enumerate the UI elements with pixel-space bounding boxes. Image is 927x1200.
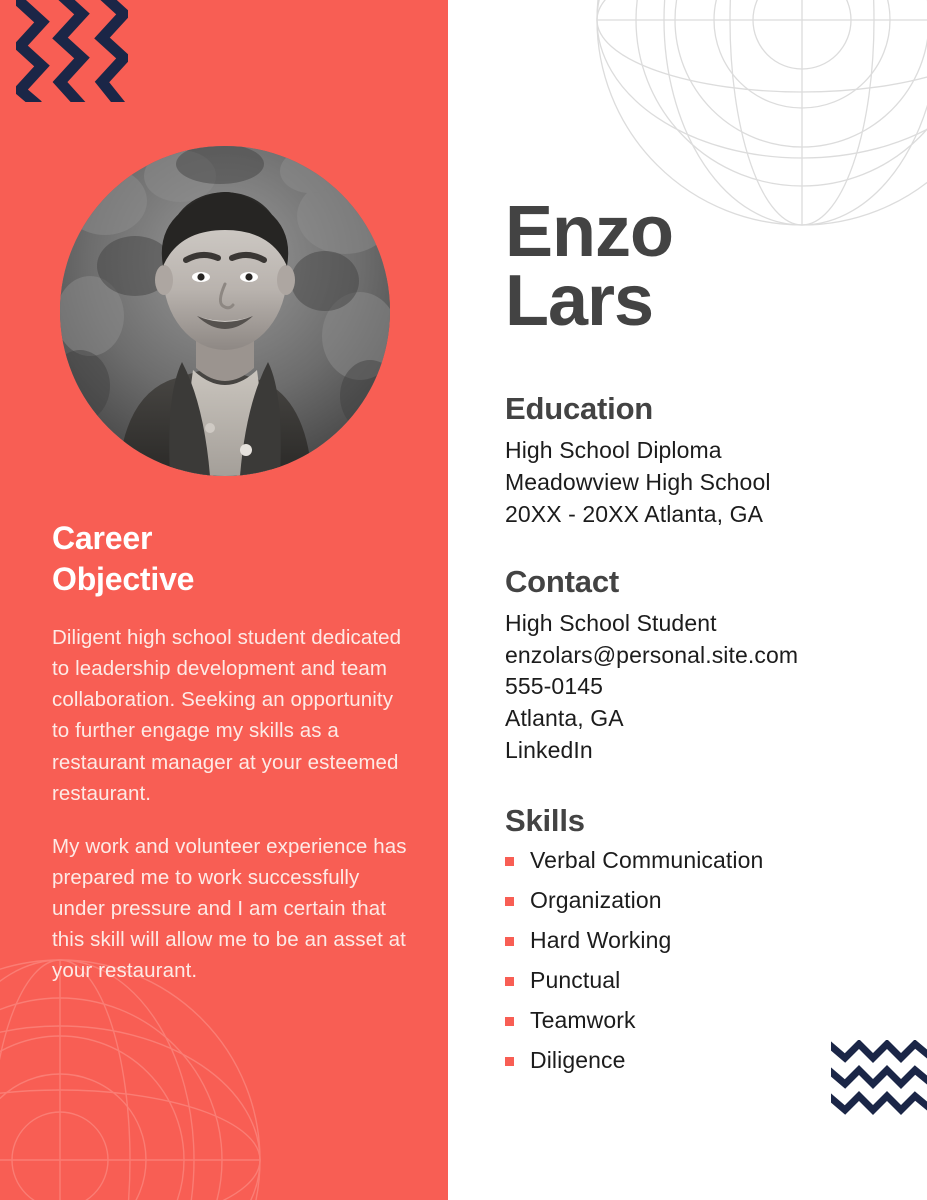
contact-line-location: Atlanta, GA	[505, 703, 927, 735]
square-bullet-icon	[505, 1017, 514, 1026]
skill-item: Hard Working	[505, 929, 927, 952]
zigzag-vertical-icon	[16, 0, 128, 102]
page-title: Enzo Lars	[505, 198, 927, 336]
skill-label: Organization	[530, 889, 662, 912]
skills-list: Verbal Communication Organization Hard W…	[505, 849, 927, 1072]
contact-heading: Contact	[505, 563, 927, 600]
skill-item: Punctual	[505, 969, 927, 992]
career-objective-paragraph-2: My work and volunteer experience has pre…	[52, 831, 408, 987]
contact-line-linkedin[interactable]: LinkedIn	[505, 735, 927, 767]
profile-photo	[60, 146, 390, 476]
square-bullet-icon	[505, 937, 514, 946]
contact-line-phone[interactable]: 555-0145	[505, 671, 927, 703]
skills-heading: Skills	[505, 802, 927, 839]
contact-line-role: High School Student	[505, 608, 927, 640]
main-content-column: Enzo Lars Education High School Diploma …	[448, 0, 927, 1200]
skill-label: Verbal Communication	[530, 849, 763, 872]
square-bullet-icon	[505, 977, 514, 986]
first-name: Enzo	[505, 198, 927, 267]
skill-label: Hard Working	[530, 929, 671, 952]
skill-label: Teamwork	[530, 1009, 636, 1032]
contact-line-email[interactable]: enzolars@personal.site.com	[505, 640, 927, 672]
education-line: High School Diploma	[505, 435, 927, 467]
left-sidebar-panel: Career Objective Diligent high school st…	[0, 0, 448, 1200]
education-line: 20XX - 20XX Atlanta, GA	[505, 499, 927, 531]
skill-label: Punctual	[530, 969, 620, 992]
square-bullet-icon	[505, 857, 514, 866]
skill-item: Diligence	[505, 1049, 927, 1072]
skill-item: Organization	[505, 889, 927, 912]
education-heading: Education	[505, 390, 927, 427]
education-line: Meadowview High School	[505, 467, 927, 499]
square-bullet-icon	[505, 897, 514, 906]
skills-section: Skills Verbal Communication Organization…	[505, 802, 927, 1071]
career-objective-section: Career Objective Diligent high school st…	[52, 518, 408, 987]
resume-page: Career Objective Diligent high school st…	[0, 0, 927, 1200]
contact-section: Contact High School Student enzolars@per…	[505, 563, 927, 767]
career-objective-paragraph-1: Diligent high school student dedicated t…	[52, 622, 408, 809]
education-section: Education High School Diploma Meadowview…	[505, 390, 927, 530]
skill-item: Verbal Communication	[505, 849, 927, 872]
skill-item: Teamwork	[505, 1009, 927, 1032]
skill-label: Diligence	[530, 1049, 626, 1072]
last-name: Lars	[505, 267, 927, 336]
square-bullet-icon	[505, 1057, 514, 1066]
career-objective-heading: Career Objective	[52, 518, 282, 600]
